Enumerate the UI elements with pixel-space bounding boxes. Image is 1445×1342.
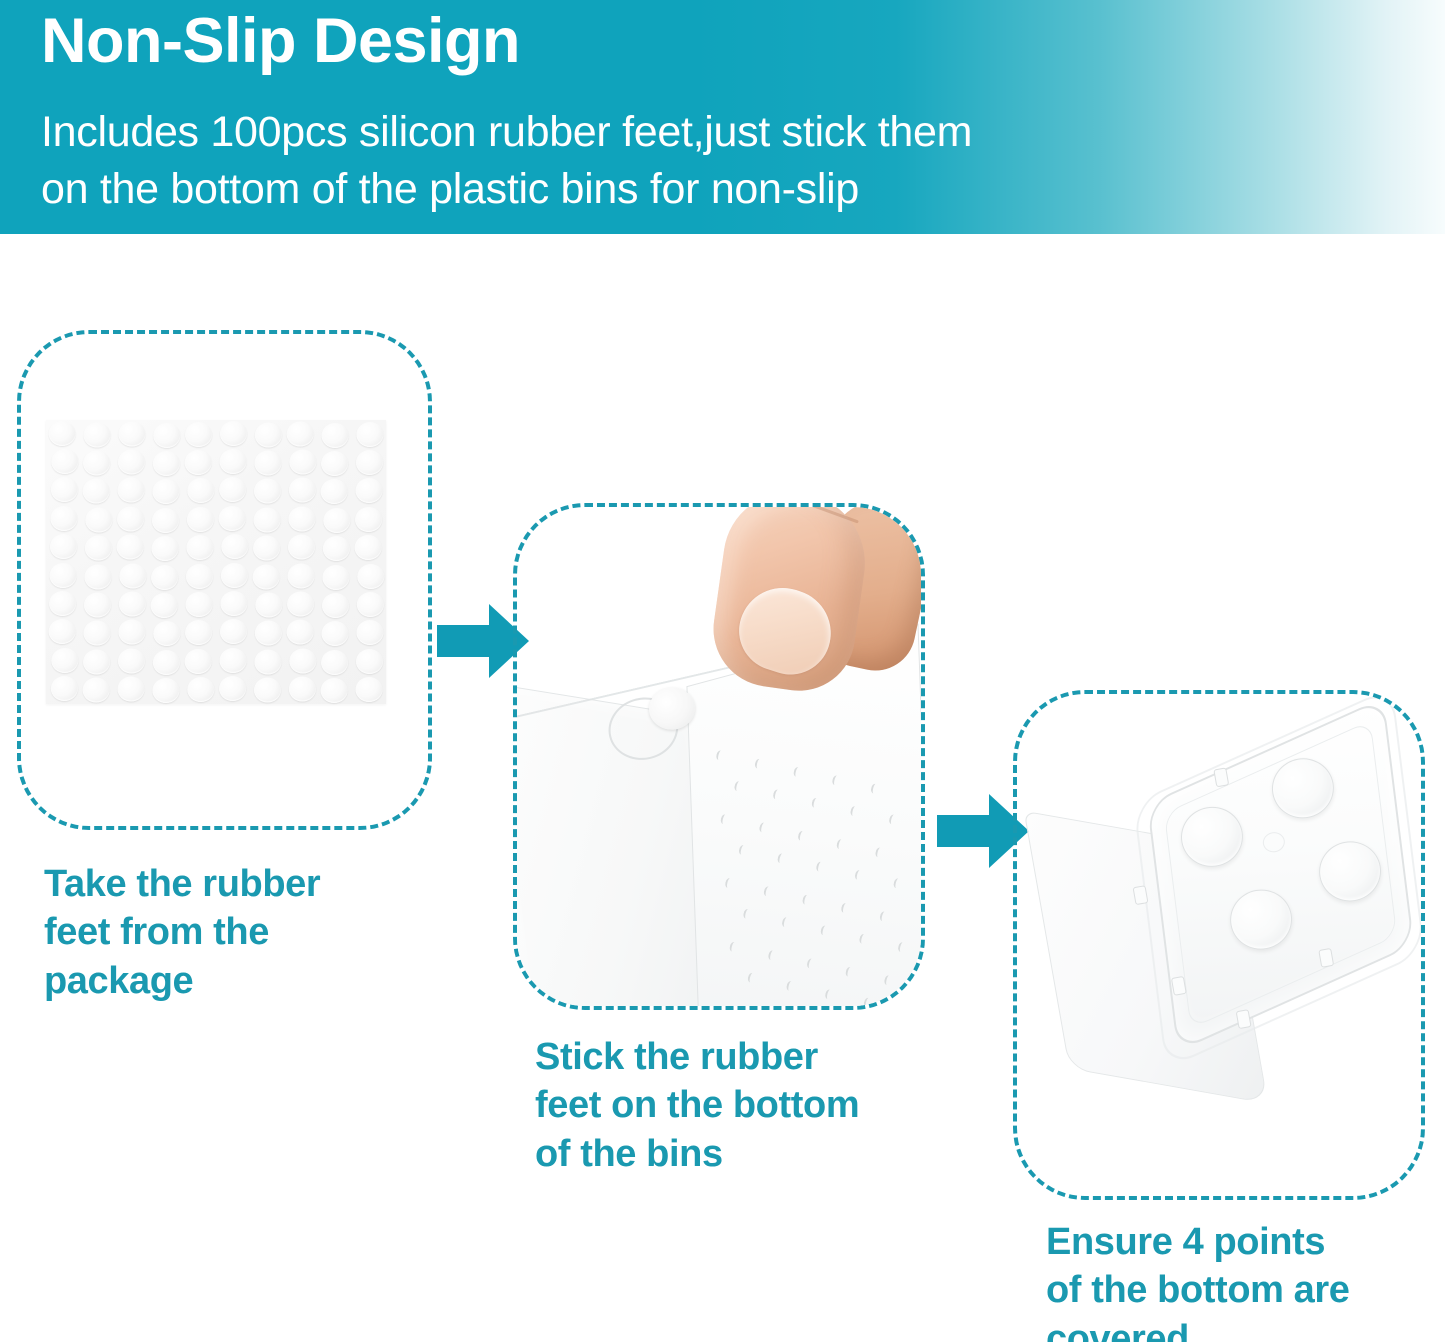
rubber-foot-dot <box>151 536 178 561</box>
rubber-foot-dot <box>50 534 77 559</box>
bin-texture-mark <box>902 1005 911 1006</box>
rubber-foot-dot <box>254 422 281 447</box>
step-1-caption: Take the rubber feet from the package <box>44 860 444 1005</box>
step-1-caption-line-2: feet from the <box>44 908 444 956</box>
rubber-foot-dot <box>254 479 281 504</box>
rubber-foot-dot <box>321 423 348 448</box>
bin-texture-mark <box>811 797 820 808</box>
rubber-foot-dot <box>218 506 245 531</box>
bin-texture-mark <box>802 894 811 905</box>
bin-texture-mark <box>793 766 802 777</box>
bin-texture-mark <box>777 853 786 864</box>
subtitle-line-1: Includes 100pcs silicon rubber feet,just… <box>41 104 972 161</box>
rubber-foot-dot <box>83 451 110 476</box>
rubber-foot-dot <box>184 649 211 674</box>
bin-texture-mark <box>820 925 829 936</box>
hand-and-bin-scene <box>517 507 921 1006</box>
bin-texture-mark <box>754 758 763 769</box>
rubber-foot-dot <box>152 508 179 533</box>
rubber-foot-dot <box>152 451 179 476</box>
rubber-foot-dot <box>288 535 315 560</box>
step-3-caption: Ensure 4 points of the bottom are covere… <box>1046 1218 1445 1342</box>
bin-texture-mark <box>888 814 897 825</box>
rubber-foot-dot <box>118 648 145 673</box>
bin-texture-mark <box>883 975 892 986</box>
rubber-foot-dot <box>356 422 383 447</box>
rubber-foot-dot <box>355 478 382 503</box>
rubber-foot-dot <box>220 619 247 644</box>
step-1-image <box>21 334 428 826</box>
bin-texture-mark <box>772 789 781 800</box>
rubber-foot-dot <box>221 534 248 559</box>
rubber-foot-dot <box>321 451 348 476</box>
bin-texture-mark <box>815 861 824 872</box>
rubber-foot-dot <box>48 421 75 446</box>
rubber-foot-dot <box>151 565 178 590</box>
rubber-foot-dot <box>219 648 246 673</box>
step-3-image-panel <box>1013 690 1425 1200</box>
rubber-foot-dot <box>116 535 143 560</box>
bin-texture-mark <box>836 839 845 850</box>
rubber-foot-dot <box>185 422 212 447</box>
bin-texture-mark <box>858 933 867 944</box>
step-1-caption-line-3: package <box>44 957 444 1005</box>
clear-bin-with-feet <box>1018 725 1421 1130</box>
rubber-foot-dot <box>49 591 76 616</box>
step-2-caption-line-1: Stick the rubber <box>535 1033 965 1081</box>
rubber-foot-dot <box>50 477 77 502</box>
rubber-foot-dot <box>152 650 179 675</box>
rubber-foot-dot <box>253 536 280 561</box>
rubber-foot-dot <box>152 678 179 703</box>
thumbnail <box>729 577 842 685</box>
rubber-foot-dot <box>51 648 78 673</box>
rubber-foot-dot <box>186 564 213 589</box>
step-1-image-panel <box>17 330 432 830</box>
bin-texture-mark <box>747 972 756 983</box>
rubber-foot-dot <box>152 479 179 504</box>
step-3-image <box>1017 694 1421 1196</box>
rubber-feet-sheet-image <box>46 420 386 704</box>
header-banner: Non-Slip Design Includes 100pcs silicon … <box>0 0 1445 234</box>
thumb <box>706 507 874 698</box>
rubber-foot-dot <box>288 506 315 531</box>
rubber-foot-dot <box>288 677 315 702</box>
step-3-caption-line-3: covered <box>1046 1315 1445 1342</box>
bin-texture-mark <box>831 775 840 786</box>
rubber-foot-dot <box>118 592 145 617</box>
bin-texture-mark <box>720 814 729 825</box>
rubber-foot-dot <box>50 676 77 701</box>
rubber-foot-dot <box>320 678 347 703</box>
bin-texture-mark <box>863 997 872 1006</box>
rubber-foot-dot <box>287 563 314 588</box>
rubber-foot-dot <box>355 507 382 532</box>
rubber-foot-dot <box>289 450 316 475</box>
bin-texture-mark <box>786 980 795 991</box>
finished-bin-scene <box>1017 694 1421 1196</box>
step-3-caption-line-1: Ensure 4 points <box>1046 1218 1445 1266</box>
step-2-caption: Stick the rubber feet on the bottom of t… <box>535 1033 965 1178</box>
step-2-caption-line-2: feet on the bottom <box>535 1081 965 1129</box>
rubber-foot-dot <box>187 478 214 503</box>
bin-texture-mark <box>734 781 743 792</box>
bin-texture-mark <box>850 806 859 817</box>
rubber-foot-dot <box>117 478 144 503</box>
rubber-foot-dot <box>219 449 246 474</box>
rubber-foot-dot <box>322 565 349 590</box>
rubber-foot-dot <box>356 450 383 475</box>
step-1-caption-line-1: Take the rubber <box>44 860 444 908</box>
rubber-foot-dot <box>356 620 383 645</box>
rubber-foot-dot <box>288 478 315 503</box>
bin-texture-mark <box>840 902 849 913</box>
bin-texture-mark <box>897 942 906 953</box>
rubber-foot-dot <box>320 479 347 504</box>
bin-texture-mark <box>797 830 806 841</box>
rubber-foot-dot <box>118 421 145 446</box>
bin-texture-mark <box>870 783 879 794</box>
rubber-foot-dot <box>289 648 316 673</box>
rubber-foot-dot <box>254 678 281 703</box>
hand-image <box>713 507 921 715</box>
rubber-foot-dot <box>186 535 213 560</box>
step-3-caption-line-2: of the bottom are <box>1046 1266 1445 1314</box>
rubber-foot-dot <box>323 508 350 533</box>
subtitle-line-2: on the bottom of the plastic bins for no… <box>41 161 972 218</box>
infographic-page: Non-Slip Design Includes 100pcs silicon … <box>0 0 1445 1342</box>
rubber-foot-dot <box>220 421 247 446</box>
rubber-foot-dot <box>119 563 146 588</box>
rubber-foot-dot <box>117 506 144 531</box>
rubber-foot-dot <box>83 422 110 447</box>
rubber-foot-dot <box>321 621 348 646</box>
rubber-foot-dot <box>184 450 211 475</box>
rubber-foot-dot <box>84 564 111 589</box>
rubber-foot-dot <box>286 620 313 645</box>
rubber-foot-dot <box>187 677 214 702</box>
rubber-foot-dot <box>255 593 282 618</box>
bin-texture-mark <box>845 966 854 977</box>
page-title: Non-Slip Design <box>41 6 520 77</box>
rubber-foot-dot <box>82 479 109 504</box>
rubber-foot-dot <box>83 649 110 674</box>
rubber-foot-dot <box>84 536 111 561</box>
bin-texture-mark <box>806 958 815 969</box>
step-2-caption-line-3: of the bins <box>535 1130 965 1178</box>
rubber-foot-dot <box>254 451 281 476</box>
bin-texture-mark <box>854 869 863 880</box>
step-2-image <box>517 507 921 1006</box>
rubber-foot-dot <box>357 564 384 589</box>
rubber-foot-dot <box>85 507 112 532</box>
rubber-foot-dot <box>254 621 281 646</box>
rubber-foot-dot <box>220 563 247 588</box>
bin-texture-mark <box>781 917 790 928</box>
rubber-foot-dot <box>82 678 109 703</box>
rubber-foot-dot <box>254 649 281 674</box>
bin-texture-mark <box>724 877 733 888</box>
rubber-foot-dot <box>117 677 144 702</box>
rubber-foot-dot <box>118 450 145 475</box>
bin-texture-mark <box>763 886 772 897</box>
rubber-foot-dot <box>354 535 381 560</box>
bin-texture-mark <box>893 878 902 889</box>
rubber-foot-dot <box>252 564 279 589</box>
rubber-foot-dot <box>219 676 246 701</box>
rubber-foot-dot <box>321 650 348 675</box>
bin-texture-mark <box>729 941 738 952</box>
rubber-foot-dot <box>220 591 247 616</box>
rubber-foot-dot <box>322 536 349 561</box>
rubber-foot-dot <box>185 592 212 617</box>
rubber-foot-dot <box>48 619 75 644</box>
bin-texture-mark <box>824 989 833 1000</box>
page-subtitle: Includes 100pcs silicon rubber feet,just… <box>41 104 972 218</box>
rubber-foot-dot <box>253 507 280 532</box>
rubber-foot-dot <box>150 593 177 618</box>
bin-texture-mark <box>738 844 747 855</box>
bin-texture-mark <box>758 822 767 833</box>
bin-texture-mark <box>879 911 888 922</box>
rubber-foot-dot <box>356 592 383 617</box>
rubber-foot-dot <box>51 449 78 474</box>
rubber-foot-dot <box>355 677 382 702</box>
rubber-foot-dot <box>153 621 180 646</box>
rubber-foot-dot <box>185 620 212 645</box>
rubber-foot-dot <box>50 506 77 531</box>
bin-texture-mark <box>767 950 776 961</box>
rubber-foot-dot <box>153 423 180 448</box>
rubber-foot-dot <box>84 593 111 618</box>
bin-texture-mark <box>742 908 751 919</box>
bin-texture-mark <box>715 750 724 761</box>
rubber-foot-dot <box>186 507 213 532</box>
rubber-foot-dot <box>83 621 110 646</box>
step-2-image-panel <box>513 503 925 1010</box>
bin-texture-mark <box>874 847 883 858</box>
rubber-foot-dot <box>322 593 349 618</box>
rubber-foot-dot <box>118 620 145 645</box>
rubber-foot-dot <box>286 421 313 446</box>
rubber-foot-dot <box>356 649 383 674</box>
rubber-foot-dot <box>49 563 76 588</box>
rubber-foot-dot <box>287 592 314 617</box>
rubber-foot-dot <box>219 477 246 502</box>
bin-texture-dots <box>716 737 921 1006</box>
